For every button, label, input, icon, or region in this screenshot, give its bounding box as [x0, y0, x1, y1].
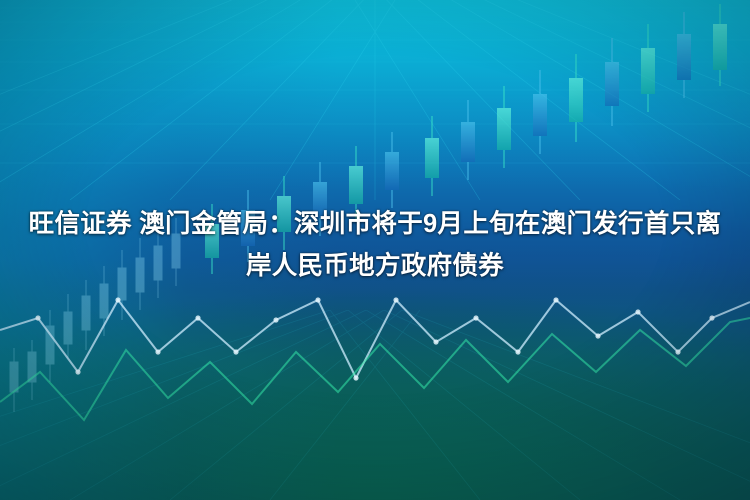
news-banner-image: 旺信证券 澳门金管局：深圳市将于9月上旬在澳门发行首只离 岸人民币地方政府债券: [0, 0, 750, 500]
headline-line-2: 岸人民币地方政府债券: [15, 245, 735, 287]
headline-line-1: 旺信证券 澳门金管局：深圳市将于9月上旬在澳门发行首只离: [15, 203, 735, 245]
polyline-green: [0, 318, 750, 420]
headline-band: 旺信证券 澳门金管局：深圳市将于9月上旬在澳门发行首只离 岸人民币地方政府债券: [0, 196, 750, 294]
